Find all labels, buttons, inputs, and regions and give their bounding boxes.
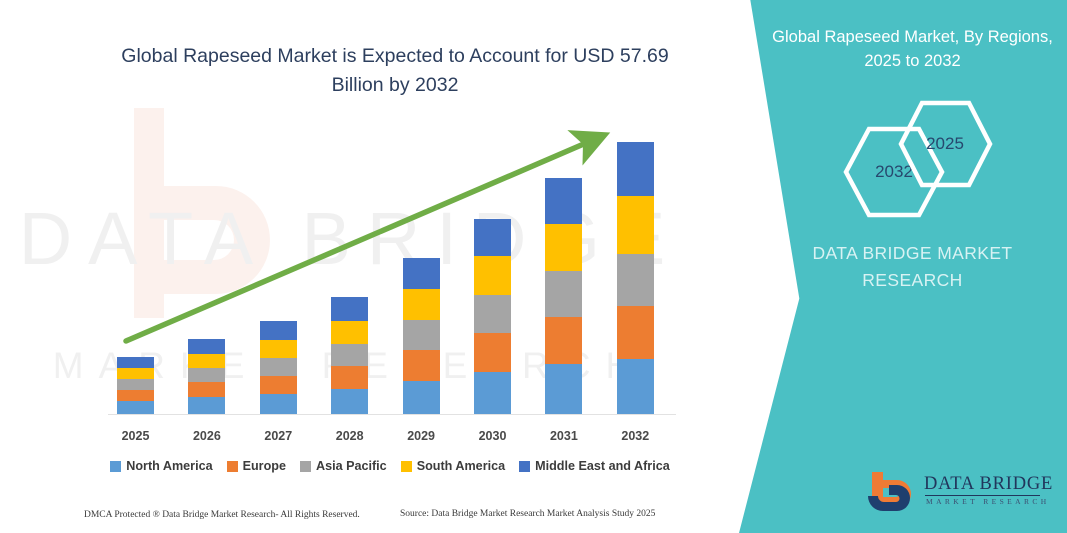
bar-2027 — [260, 321, 297, 414]
bar-segment — [117, 390, 154, 401]
legend-swatch-icon — [110, 461, 121, 472]
bar-segment — [331, 366, 368, 389]
brand-logo: DATA BRIDGE MARKET RESEARCH — [866, 470, 1056, 520]
bar-2032 — [617, 142, 654, 414]
bar-segment — [188, 368, 225, 382]
bar-2029 — [403, 258, 440, 414]
bar-segment — [188, 339, 225, 354]
bar-segment — [474, 219, 511, 256]
bar-segment — [617, 142, 654, 196]
hexagon-2025-label: 2025 — [897, 100, 993, 188]
legend-item[interactable]: Middle East and Africa — [519, 459, 670, 473]
legend-item[interactable]: South America — [401, 459, 505, 473]
bar-segment — [117, 368, 154, 379]
legend-swatch-icon — [401, 461, 412, 472]
bar-segment — [331, 389, 368, 414]
bar-segment — [617, 196, 654, 254]
footer-source: Source: Data Bridge Market Research Mark… — [400, 509, 655, 519]
legend-item[interactable]: Europe — [227, 459, 286, 473]
bar-segment — [331, 321, 368, 344]
hexagon-group: 2032 2025 — [815, 100, 1015, 220]
bar-segment — [617, 254, 654, 306]
legend-label: Europe — [243, 459, 286, 473]
chart-plot-area: 20252026202720282029203020312032 — [0, 0, 700, 533]
legend-label: Middle East and Africa — [535, 459, 670, 473]
bar-2030 — [474, 219, 511, 414]
legend-swatch-icon — [519, 461, 530, 472]
bar-segment — [117, 401, 154, 414]
chart-legend: North AmericaEuropeAsia PacificSouth Ame… — [100, 459, 680, 473]
legend-item[interactable]: North America — [110, 459, 212, 473]
x-axis-tick-2030: 2030 — [463, 429, 523, 443]
bar-2025 — [117, 357, 154, 414]
x-axis-tick-2028: 2028 — [320, 429, 380, 443]
bar-segment — [545, 317, 582, 364]
bar-2031 — [545, 178, 582, 414]
logo-divider — [925, 495, 1040, 496]
panel-title: Global Rapeseed Market, By Regions, 2025… — [770, 26, 1055, 74]
panel-brand-text: DATA BRIDGE MARKET RESEARCH — [780, 240, 1045, 294]
bar-segment — [188, 354, 225, 368]
bar-segment — [545, 271, 582, 317]
bar-segment — [403, 320, 440, 350]
bar-segment — [117, 379, 154, 390]
bar-segment — [474, 372, 511, 414]
bar-segment — [403, 381, 440, 414]
bar-segment — [331, 344, 368, 366]
bar-2028 — [331, 297, 368, 414]
x-axis-tick-2029: 2029 — [391, 429, 451, 443]
bar-segment — [117, 357, 154, 368]
bar-segment — [474, 333, 511, 372]
bar-segment — [403, 258, 440, 289]
logo-name: DATA BRIDGE — [924, 474, 1053, 495]
bar-segment — [545, 224, 582, 271]
bar-segment — [545, 178, 582, 224]
bar-segment — [474, 295, 511, 333]
bar-segment — [188, 397, 225, 414]
bar-segment — [474, 256, 511, 295]
legend-item[interactable]: Asia Pacific — [300, 459, 387, 473]
x-axis-tick-2032: 2032 — [605, 429, 665, 443]
bar-segment — [617, 359, 654, 414]
bar-segment — [617, 306, 654, 359]
x-axis-tick-2031: 2031 — [534, 429, 594, 443]
logo-subtitle: MARKET RESEARCH — [926, 497, 1050, 506]
legend-label: North America — [126, 459, 212, 473]
legend-label: South America — [417, 459, 505, 473]
growth-arrow-icon — [0, 0, 700, 533]
bar-segment — [403, 289, 440, 320]
legend-label: Asia Pacific — [316, 459, 387, 473]
x-axis-line — [108, 414, 676, 415]
footer-copyright: DMCA Protected ® Data Bridge Market Rese… — [84, 510, 360, 520]
bar-segment — [331, 297, 368, 321]
bar-segment — [260, 340, 297, 358]
bar-segment — [403, 350, 440, 381]
x-axis-tick-2026: 2026 — [177, 429, 237, 443]
infographic-canvas: DATA BRIDGE MARKET RESEARCH Global Rapes… — [0, 0, 1067, 533]
brand-mark-icon — [866, 470, 922, 518]
legend-swatch-icon — [300, 461, 311, 472]
bar-segment — [260, 358, 297, 376]
x-axis-tick-2027: 2027 — [248, 429, 308, 443]
bar-segment — [188, 382, 225, 397]
x-axis-tick-2025: 2025 — [106, 429, 166, 443]
legend-swatch-icon — [227, 461, 238, 472]
bar-2026 — [188, 339, 225, 414]
bar-segment — [545, 364, 582, 414]
bar-segment — [260, 376, 297, 394]
bar-segment — [260, 394, 297, 414]
bar-segment — [260, 321, 297, 340]
